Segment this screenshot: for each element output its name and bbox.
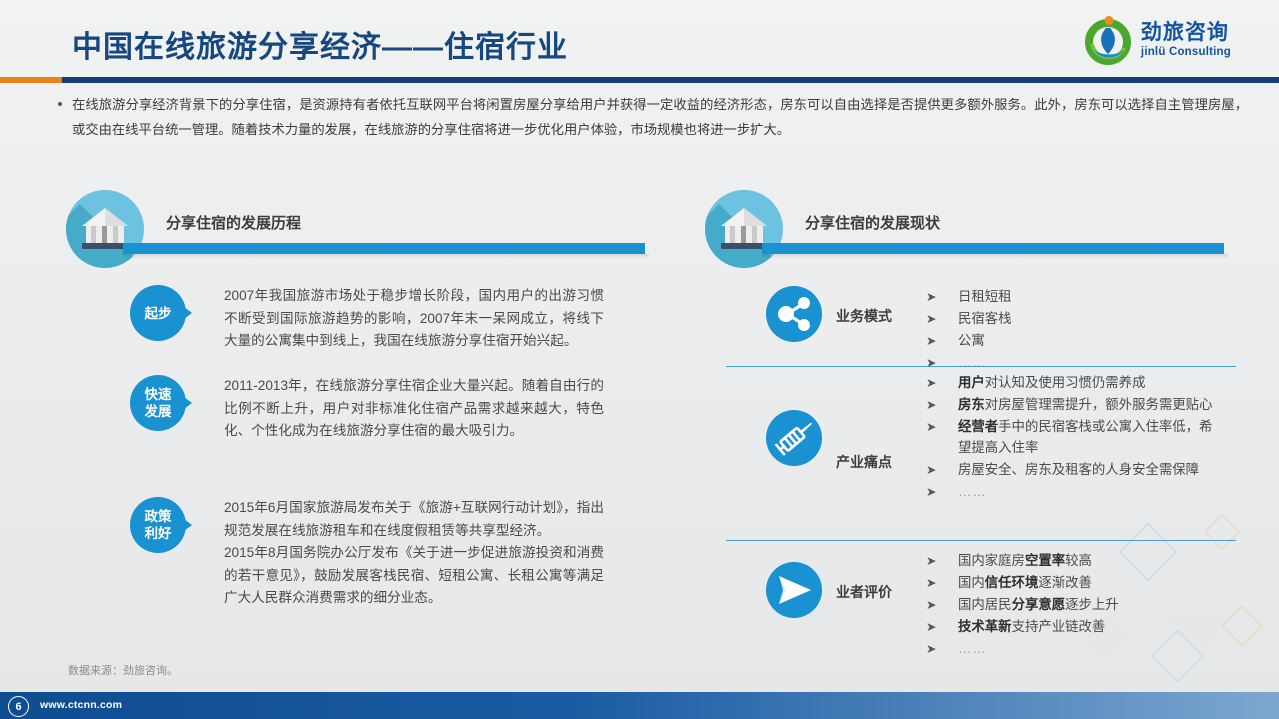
list-item: ➤经营者手中的民宿客栈或公寓入住率低，希望提高入住率 [918, 416, 1218, 458]
right-block-title: 产业痛点 [836, 452, 892, 472]
bullet-dot [58, 102, 62, 106]
timeline-text-3: 2015年6月国家旅游局发布关于《旅游+互联网行动计划》，指出规范发展在线旅游租… [224, 497, 604, 610]
arrow-bullet-icon: ➤ [926, 617, 936, 638]
accent-rule-navy [62, 77, 1279, 83]
right-block-operator-review: 业者评价 ➤国内家庭房空置率较高 ➤国内信任环境逐渐改善 ➤国内居民分享意愿逐步… [766, 550, 1236, 655]
timeline-pin-label-1: 起步 [130, 285, 186, 341]
accent-rule-orange [0, 77, 62, 83]
list-item: ➤房东对房屋管理需提升，额外服务需更贴心 [918, 394, 1218, 415]
brand-logo: 劲旅咨询 jinlü Consulting [1082, 12, 1231, 68]
arrow-bullet-icon: ➤ [926, 639, 937, 660]
list-item: ➤技术革新支持产业链改善 [918, 616, 1218, 637]
timeline-pin-3: 政策 利好 [130, 497, 192, 553]
syringe-icon [766, 410, 822, 466]
logo-name-cn: 劲旅咨询 [1141, 22, 1231, 43]
slide-canvas: 中国在线旅游分享经济——住宿行业 劲旅咨询 jinlü Consulting 在… [0, 0, 1279, 719]
list-item: ➤房屋安全、房东及租客的人身安全需保障 [918, 459, 1218, 480]
list-item: ➤民宿客栈 [918, 308, 1218, 329]
pin-line: 政策 [145, 508, 172, 525]
pin-line: 利好 [145, 525, 172, 542]
share-network-icon [766, 286, 822, 342]
list-item: ➤…… [918, 638, 1218, 659]
arrow-bullet-icon: ➤ [926, 353, 937, 374]
footer-bar: 6 www.ctcnn.com [0, 692, 1279, 719]
timeline-pin-label-3: 政策 利好 [130, 497, 186, 553]
list-item: ➤…… [918, 481, 1218, 502]
timeline-pin-1: 起步 [130, 285, 192, 341]
arrow-bullet-icon: ➤ [926, 482, 937, 503]
timeline-paragraph: 2007年我国旅游市场处于稳步增长阶段，国内用户的出游习惯不断受到国际旅游趋势的… [224, 285, 604, 353]
footer-url[interactable]: www.ctcnn.com [40, 699, 122, 711]
pin-line: 快速 [145, 386, 172, 403]
arrow-bullet-icon: ➤ [926, 395, 936, 416]
timeline-paragraph: 2015年8月国务院办公厅发布《关于进一步促进旅游投资和消费的若干意见》，鼓励发… [224, 542, 604, 610]
list-item: ➤公寓 [918, 330, 1218, 351]
page-title: 中国在线旅游分享经济——住宿行业 [72, 22, 568, 66]
arrow-bullet-icon: ➤ [926, 287, 936, 308]
logo-name-en: jinlü Consulting [1141, 47, 1231, 59]
right-block-pain-points: 产业痛点 ➤用户对认知及使用习惯仍需养成 ➤房东对房屋管理需提升，额外服务需更贴… [766, 372, 1236, 538]
list-item: ➤用户对认知及使用习惯仍需养成 [918, 372, 1218, 393]
page-number: 6 [8, 696, 29, 717]
arrow-bullet-icon: ➤ [926, 460, 936, 481]
block-separator [726, 540, 1236, 541]
pin-line: 发展 [145, 403, 172, 420]
list-item: ➤日租短租 [918, 286, 1218, 307]
data-source-note: 数据来源：劲旅咨询。 [68, 662, 178, 678]
list-item: ➤国内居民分享意愿逐步上升 [918, 594, 1218, 615]
timeline-pin-label-2: 快速 发展 [130, 375, 186, 431]
intro-paragraph: 在线旅游分享经济背景下的分享住宿，是资源持有者依托互联网平台将闲置房屋分享给用户… [58, 92, 1248, 142]
intro-text: 在线旅游分享经济背景下的分享住宿，是资源持有者依托互联网平台将闲置房屋分享给用户… [72, 92, 1248, 142]
arrow-bullet-icon: ➤ [926, 573, 936, 594]
list-item: ➤国内信任环境逐渐改善 [918, 572, 1218, 593]
timeline-pin-2: 快速 发展 [130, 375, 192, 431]
arrow-bullet-icon: ➤ [926, 373, 936, 394]
timeline-text-1: 2007年我国旅游市场处于稳步增长阶段，国内用户的出游习惯不断受到国际旅游趋势的… [224, 285, 604, 353]
list-item: ➤国内家庭房空置率较高 [918, 550, 1218, 571]
timeline-text-2: 2011-2013年，在线旅游分享住宿企业大量兴起。随着自由行的比例不断上升，用… [224, 375, 604, 443]
right-block-list: ➤用户对认知及使用习惯仍需养成 ➤房东对房屋管理需提升，额外服务需更贴心 ➤经营… [918, 372, 1218, 503]
right-block-list: ➤国内家庭房空置率较高 ➤国内信任环境逐渐改善 ➤国内居民分享意愿逐步上升 ➤技… [918, 550, 1218, 660]
right-block-list: ➤日租短租 ➤民宿客栈 ➤公寓 ➤…… [918, 286, 1218, 374]
left-section-title: 分享住宿的发展历程 [166, 212, 301, 233]
arrow-bullet-icon: ➤ [926, 309, 936, 330]
paper-plane-icon [766, 562, 822, 618]
jinlu-swoosh-icon [1082, 14, 1134, 66]
right-block-business-model: 业务模式 ➤日租短租 ➤民宿客栈 ➤公寓 ➤…… [766, 286, 1236, 364]
right-section-header: 分享住宿的发展现状 [705, 190, 1235, 270]
block-separator [726, 366, 1236, 367]
right-section-title: 分享住宿的发展现状 [805, 212, 940, 233]
timeline-paragraph: 2015年6月国家旅游局发布关于《旅游+互联网行动计划》，指出规范发展在线旅游租… [224, 497, 604, 542]
timeline-paragraph: 2011-2013年，在线旅游分享住宿企业大量兴起。随着自由行的比例不断上升，用… [224, 375, 604, 443]
arrow-bullet-icon: ➤ [926, 417, 936, 438]
right-block-title: 业务模式 [836, 306, 892, 326]
arrow-bullet-icon: ➤ [926, 331, 936, 352]
right-block-title: 业者评价 [836, 582, 892, 602]
arrow-bullet-icon: ➤ [926, 551, 936, 572]
left-section-header: 分享住宿的发展历程 [66, 190, 646, 270]
arrow-bullet-icon: ➤ [926, 595, 936, 616]
list-item: ➤…… [918, 352, 1218, 373]
